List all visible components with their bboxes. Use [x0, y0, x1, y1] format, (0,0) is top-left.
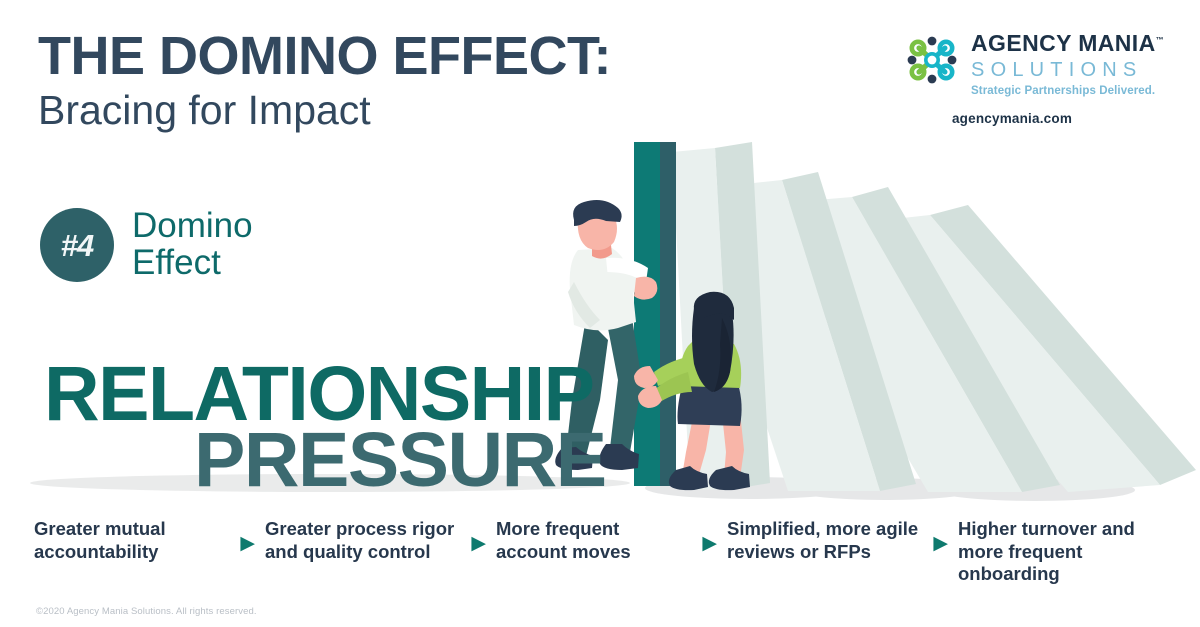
- list-item: Greater mutual accountability: [34, 518, 230, 563]
- logo-row: AGENCY MANIA™ SOLUTIONS Strategic Partne…: [874, 32, 1164, 97]
- trademark-icon: ™: [1156, 35, 1164, 44]
- page-subtitle: Bracing for Impact: [38, 86, 611, 134]
- badge-circle: #4: [40, 208, 114, 282]
- logo-wordmark: AGENCY MANIA™ SOLUTIONS Strategic Partne…: [971, 32, 1164, 97]
- brand-logo-block[interactable]: AGENCY MANIA™ SOLUTIONS Strategic Partne…: [874, 32, 1164, 126]
- logo-solutions-word: SOLUTIONS: [971, 58, 1164, 83]
- page-title: THE DOMINO EFFECT:: [38, 28, 611, 84]
- header-title-block: THE DOMINO EFFECT: Bracing for Impact: [38, 28, 611, 135]
- section-badge-row: #4 Domino Effect: [40, 208, 253, 282]
- bullet-list: Greater mutual accountability ▶ Greater …: [34, 518, 1174, 586]
- standing-domino: [634, 142, 676, 486]
- headline-block: RELATIONSHIP PRESSURE: [44, 358, 606, 498]
- copyright-notice: ©2020 Agency Mania Solutions. All rights…: [36, 606, 257, 617]
- badge-label: Domino Effect: [132, 208, 253, 282]
- arrow-right-icon: ▶: [923, 534, 958, 553]
- arrow-right-icon: ▶: [461, 534, 496, 553]
- infographic-canvas: THE DOMINO EFFECT: Bracing for Impact: [0, 0, 1200, 627]
- list-item: More frequent account moves: [496, 518, 692, 563]
- agency-mania-network-icon: [906, 34, 958, 86]
- website-url[interactable]: agencymania.com: [874, 111, 1164, 126]
- arrow-right-icon: ▶: [230, 534, 265, 553]
- list-item: Higher turnover and more frequent onboar…: [958, 518, 1174, 586]
- list-item: Simplified, more agile reviews or RFPs: [727, 518, 923, 563]
- headline-line-2: PRESSURE: [194, 424, 606, 498]
- badge-number: #4: [61, 230, 93, 261]
- logo-tagline: Strategic Partnerships Delivered.: [971, 85, 1164, 97]
- logo-company-name-text: AGENCY MANIA: [971, 30, 1156, 56]
- arrow-right-icon: ▶: [692, 534, 727, 553]
- list-item: Greater process rigor and quality contro…: [265, 518, 461, 563]
- logo-company-name: AGENCY MANIA™: [971, 32, 1164, 55]
